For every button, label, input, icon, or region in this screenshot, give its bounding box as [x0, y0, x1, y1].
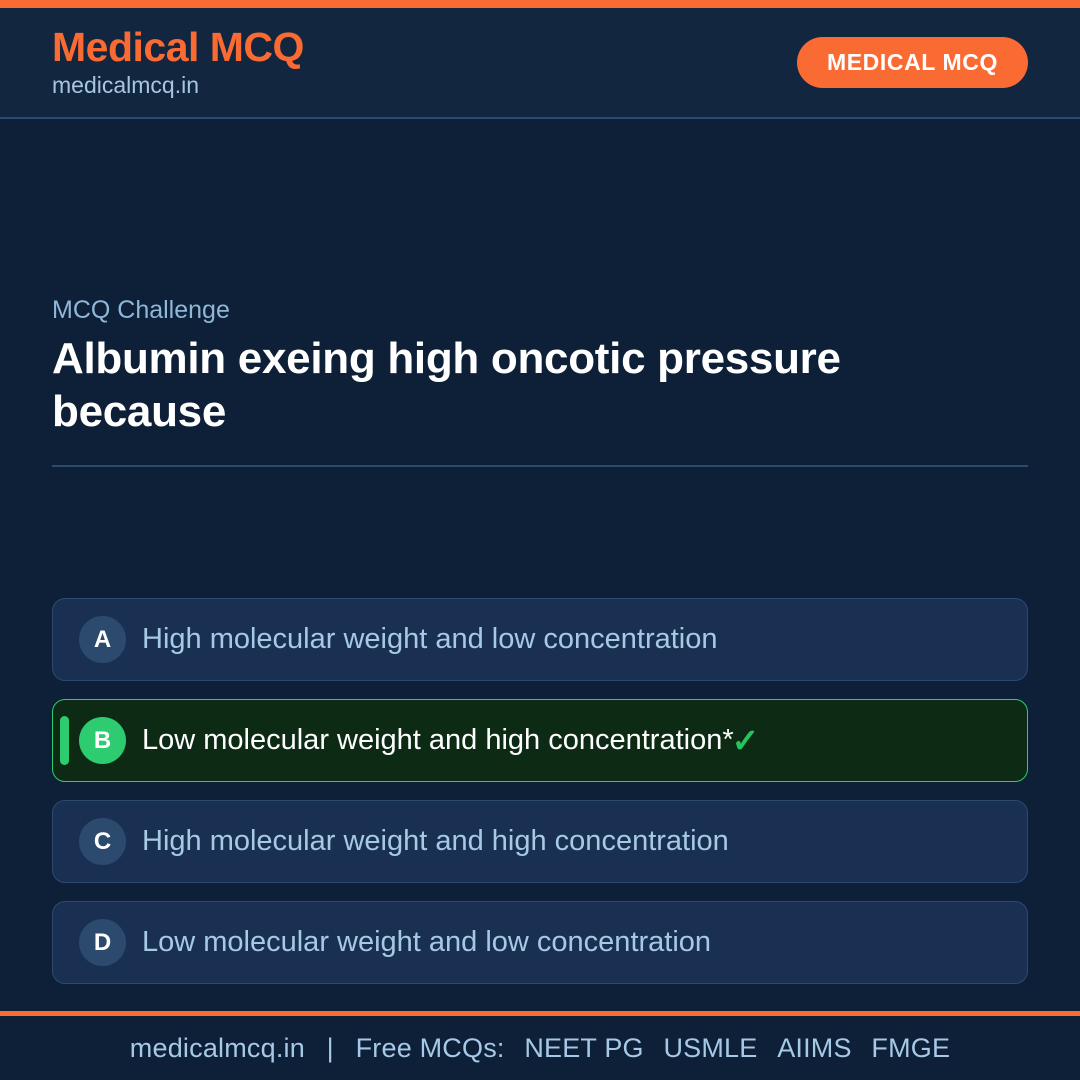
footer-exam-usmle: USMLE: [663, 1033, 757, 1063]
brand-subtitle: medicalmcq.in: [52, 71, 304, 100]
option-a-badge: A: [79, 616, 126, 663]
option-b-content: Low molecular weight and high concentrat…: [142, 724, 759, 757]
footer: medicalmcq.in | Free MCQs: NEET PG USMLE…: [0, 1011, 1080, 1080]
option-d-text: Low molecular weight and low concentrati…: [142, 926, 711, 959]
footer-site: medicalmcq.in: [130, 1033, 305, 1063]
options-list: A High molecular weight and low concentr…: [52, 598, 1028, 984]
brand-badge: MEDICAL MCQ: [797, 37, 1028, 88]
option-c-text: High molecular weight and high concentra…: [142, 825, 729, 858]
brand-block: Medical MCQ medicalmcq.in: [52, 25, 304, 100]
question-block: MCQ Challenge Albumin exeing high oncoti…: [52, 295, 1028, 467]
footer-text: medicalmcq.in | Free MCQs: NEET PG USMLE…: [130, 1033, 950, 1064]
check-mark-icon: ✓: [732, 724, 760, 757]
question-title: Albumin exeing high oncotic pressure bec…: [52, 333, 912, 439]
question-kicker: MCQ Challenge: [52, 295, 1028, 325]
main-content: MCQ Challenge Albumin exeing high oncoti…: [0, 119, 1080, 1011]
option-d-badge: D: [79, 919, 126, 966]
footer-separator: |: [327, 1033, 334, 1063]
option-b[interactable]: B Low molecular weight and high concentr…: [52, 699, 1028, 782]
option-c-badge: C: [79, 818, 126, 865]
footer-exam-aiims: AIIMS: [777, 1033, 852, 1063]
brand-title: Medical MCQ: [52, 25, 304, 69]
option-d[interactable]: D Low molecular weight and low concentra…: [52, 901, 1028, 984]
option-a-text: High molecular weight and low concentrat…: [142, 623, 717, 656]
header: Medical MCQ medicalmcq.in MEDICAL MCQ: [0, 8, 1080, 119]
mcq-card: Medical MCQ medicalmcq.in MEDICAL MCQ MC…: [0, 0, 1080, 1080]
option-b-text: Low molecular weight and high concentrat…: [142, 724, 734, 757]
top-accent-bar: [0, 0, 1080, 8]
correct-accent-bar: [60, 716, 69, 765]
option-b-badge: B: [79, 717, 126, 764]
footer-exam-fmge: FMGE: [871, 1033, 950, 1063]
question-divider: [52, 465, 1028, 467]
option-a[interactable]: A High molecular weight and low concentr…: [52, 598, 1028, 681]
footer-exam-neet-pg: NEET PG: [524, 1033, 643, 1063]
footer-prefix: Free MCQs:: [356, 1033, 505, 1063]
option-c[interactable]: C High molecular weight and high concent…: [52, 800, 1028, 883]
